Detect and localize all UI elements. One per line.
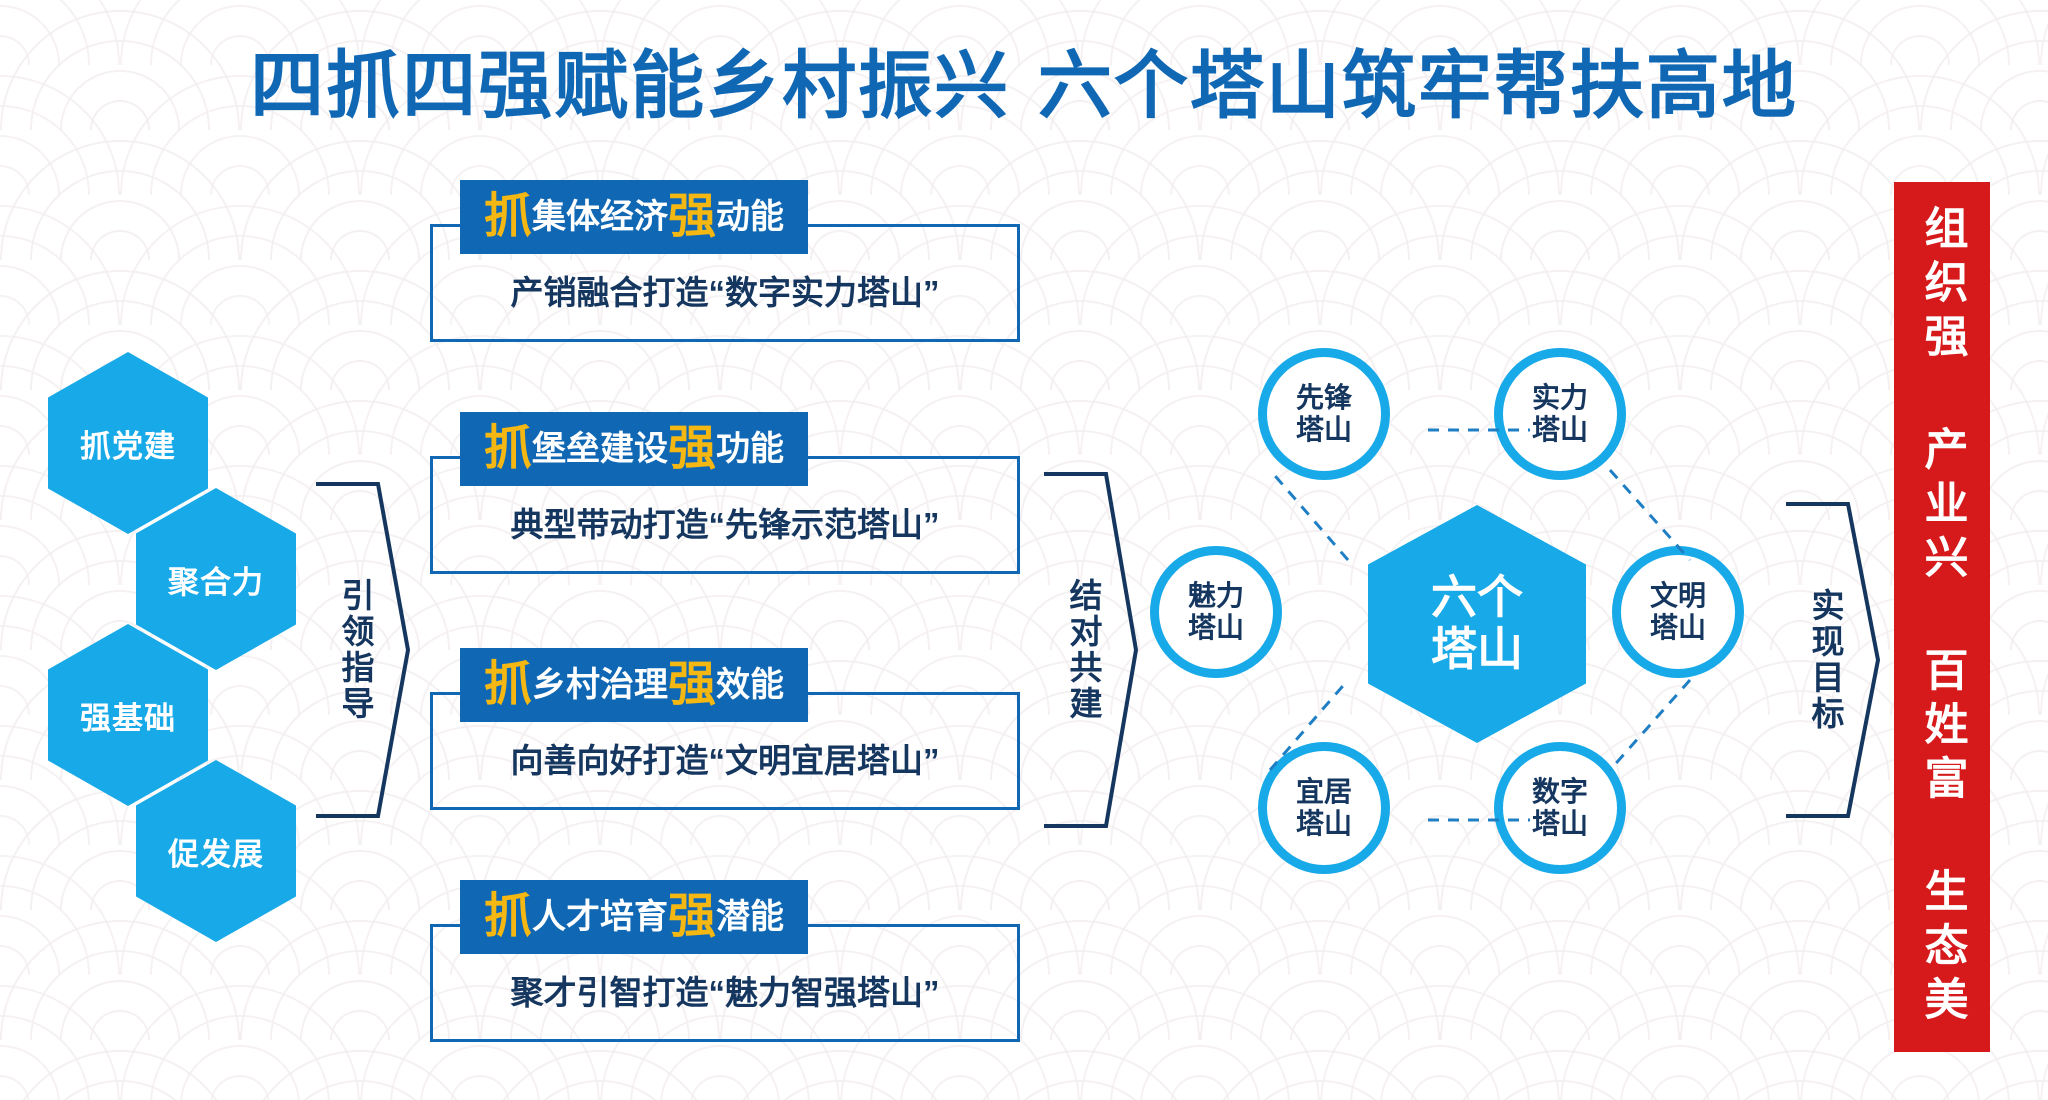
cluster-connectors (0, 0, 2048, 1100)
